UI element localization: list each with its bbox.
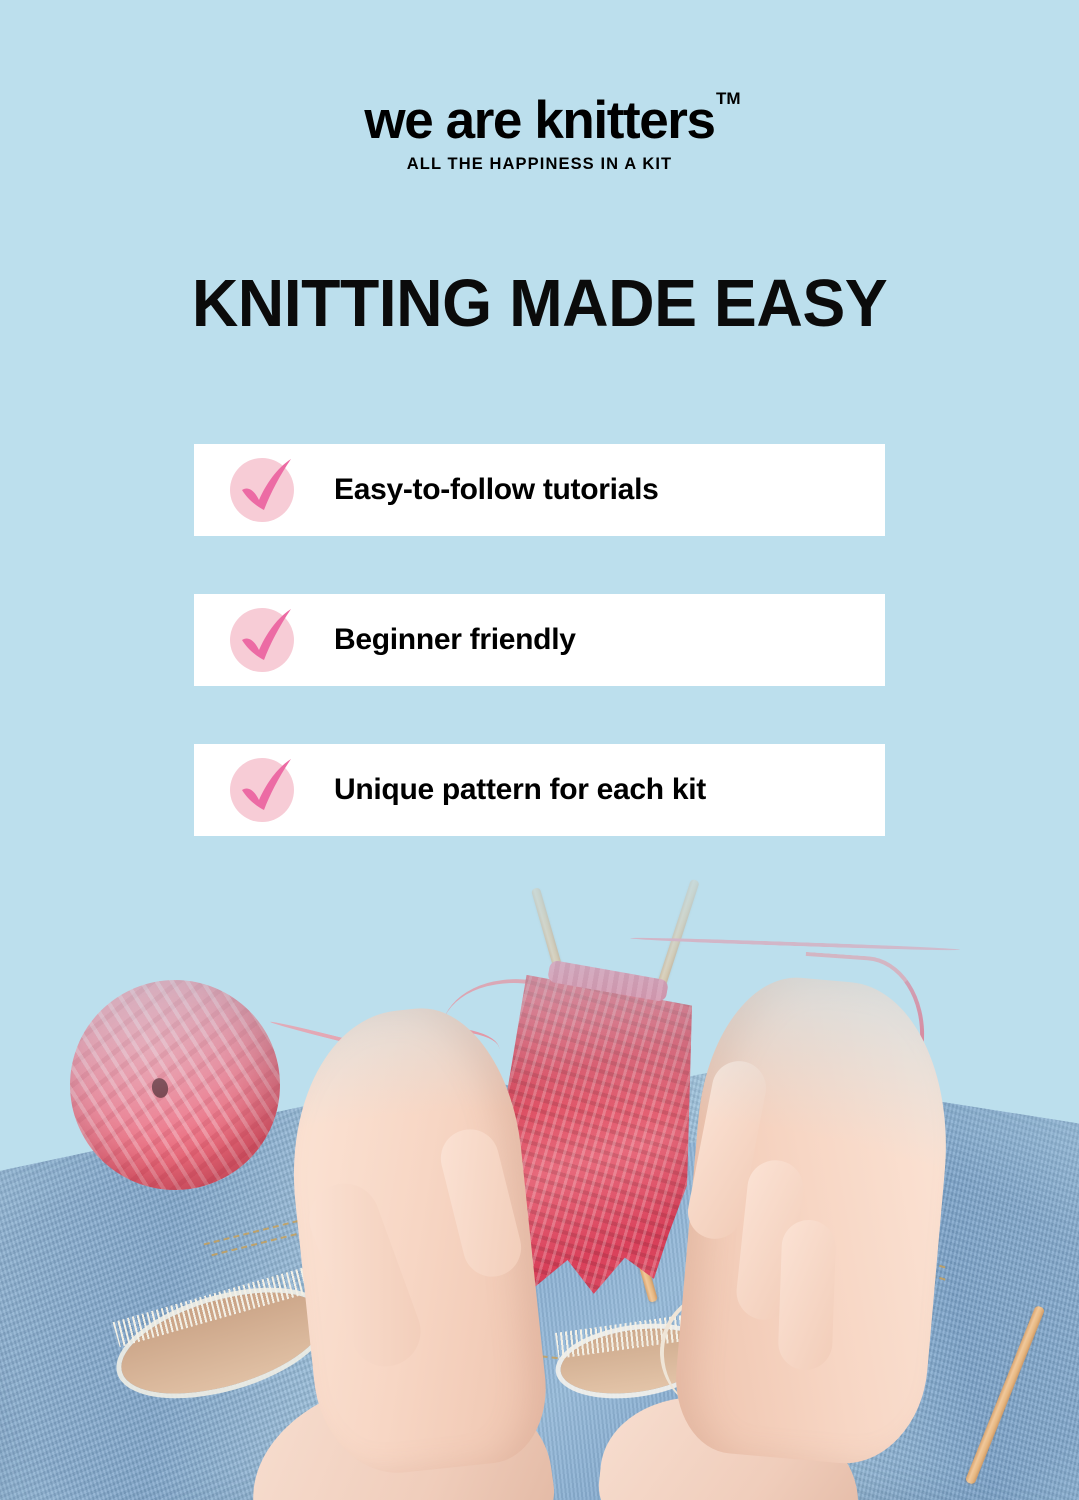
- yarn-ball: [70, 980, 280, 1190]
- check-mark-icon: [230, 758, 294, 822]
- check-mark-icon: [230, 608, 294, 672]
- feature-card: Unique pattern for each kit: [194, 744, 885, 836]
- feature-list: Easy-to-follow tutorials Beginner friend…: [194, 444, 885, 836]
- brand-name: we are knittersTM: [364, 92, 714, 150]
- feature-label: Unique pattern for each kit: [334, 773, 706, 807]
- feature-card: Easy-to-follow tutorials: [194, 444, 885, 536]
- brand-tagline: ALL THE HAPPINESS IN A KIT: [0, 155, 1079, 174]
- brand-name-text: we are knitters: [364, 91, 714, 150]
- page-title: KNITTING MADE EASY: [22, 268, 1058, 340]
- poster: we are knittersTM ALL THE HAPPINESS IN A…: [0, 0, 1079, 1500]
- trademark-icon: TM: [716, 90, 741, 107]
- hero-photo: [0, 860, 1079, 1500]
- brand-block: we are knittersTM ALL THE HAPPINESS IN A…: [0, 92, 1079, 174]
- feature-card: Beginner friendly: [194, 594, 885, 686]
- feature-label: Beginner friendly: [334, 623, 576, 657]
- yarn-strand: [630, 936, 960, 952]
- check-mark-icon: [230, 458, 294, 522]
- right-ring-finger: [777, 1219, 836, 1371]
- feature-label: Easy-to-follow tutorials: [334, 473, 659, 507]
